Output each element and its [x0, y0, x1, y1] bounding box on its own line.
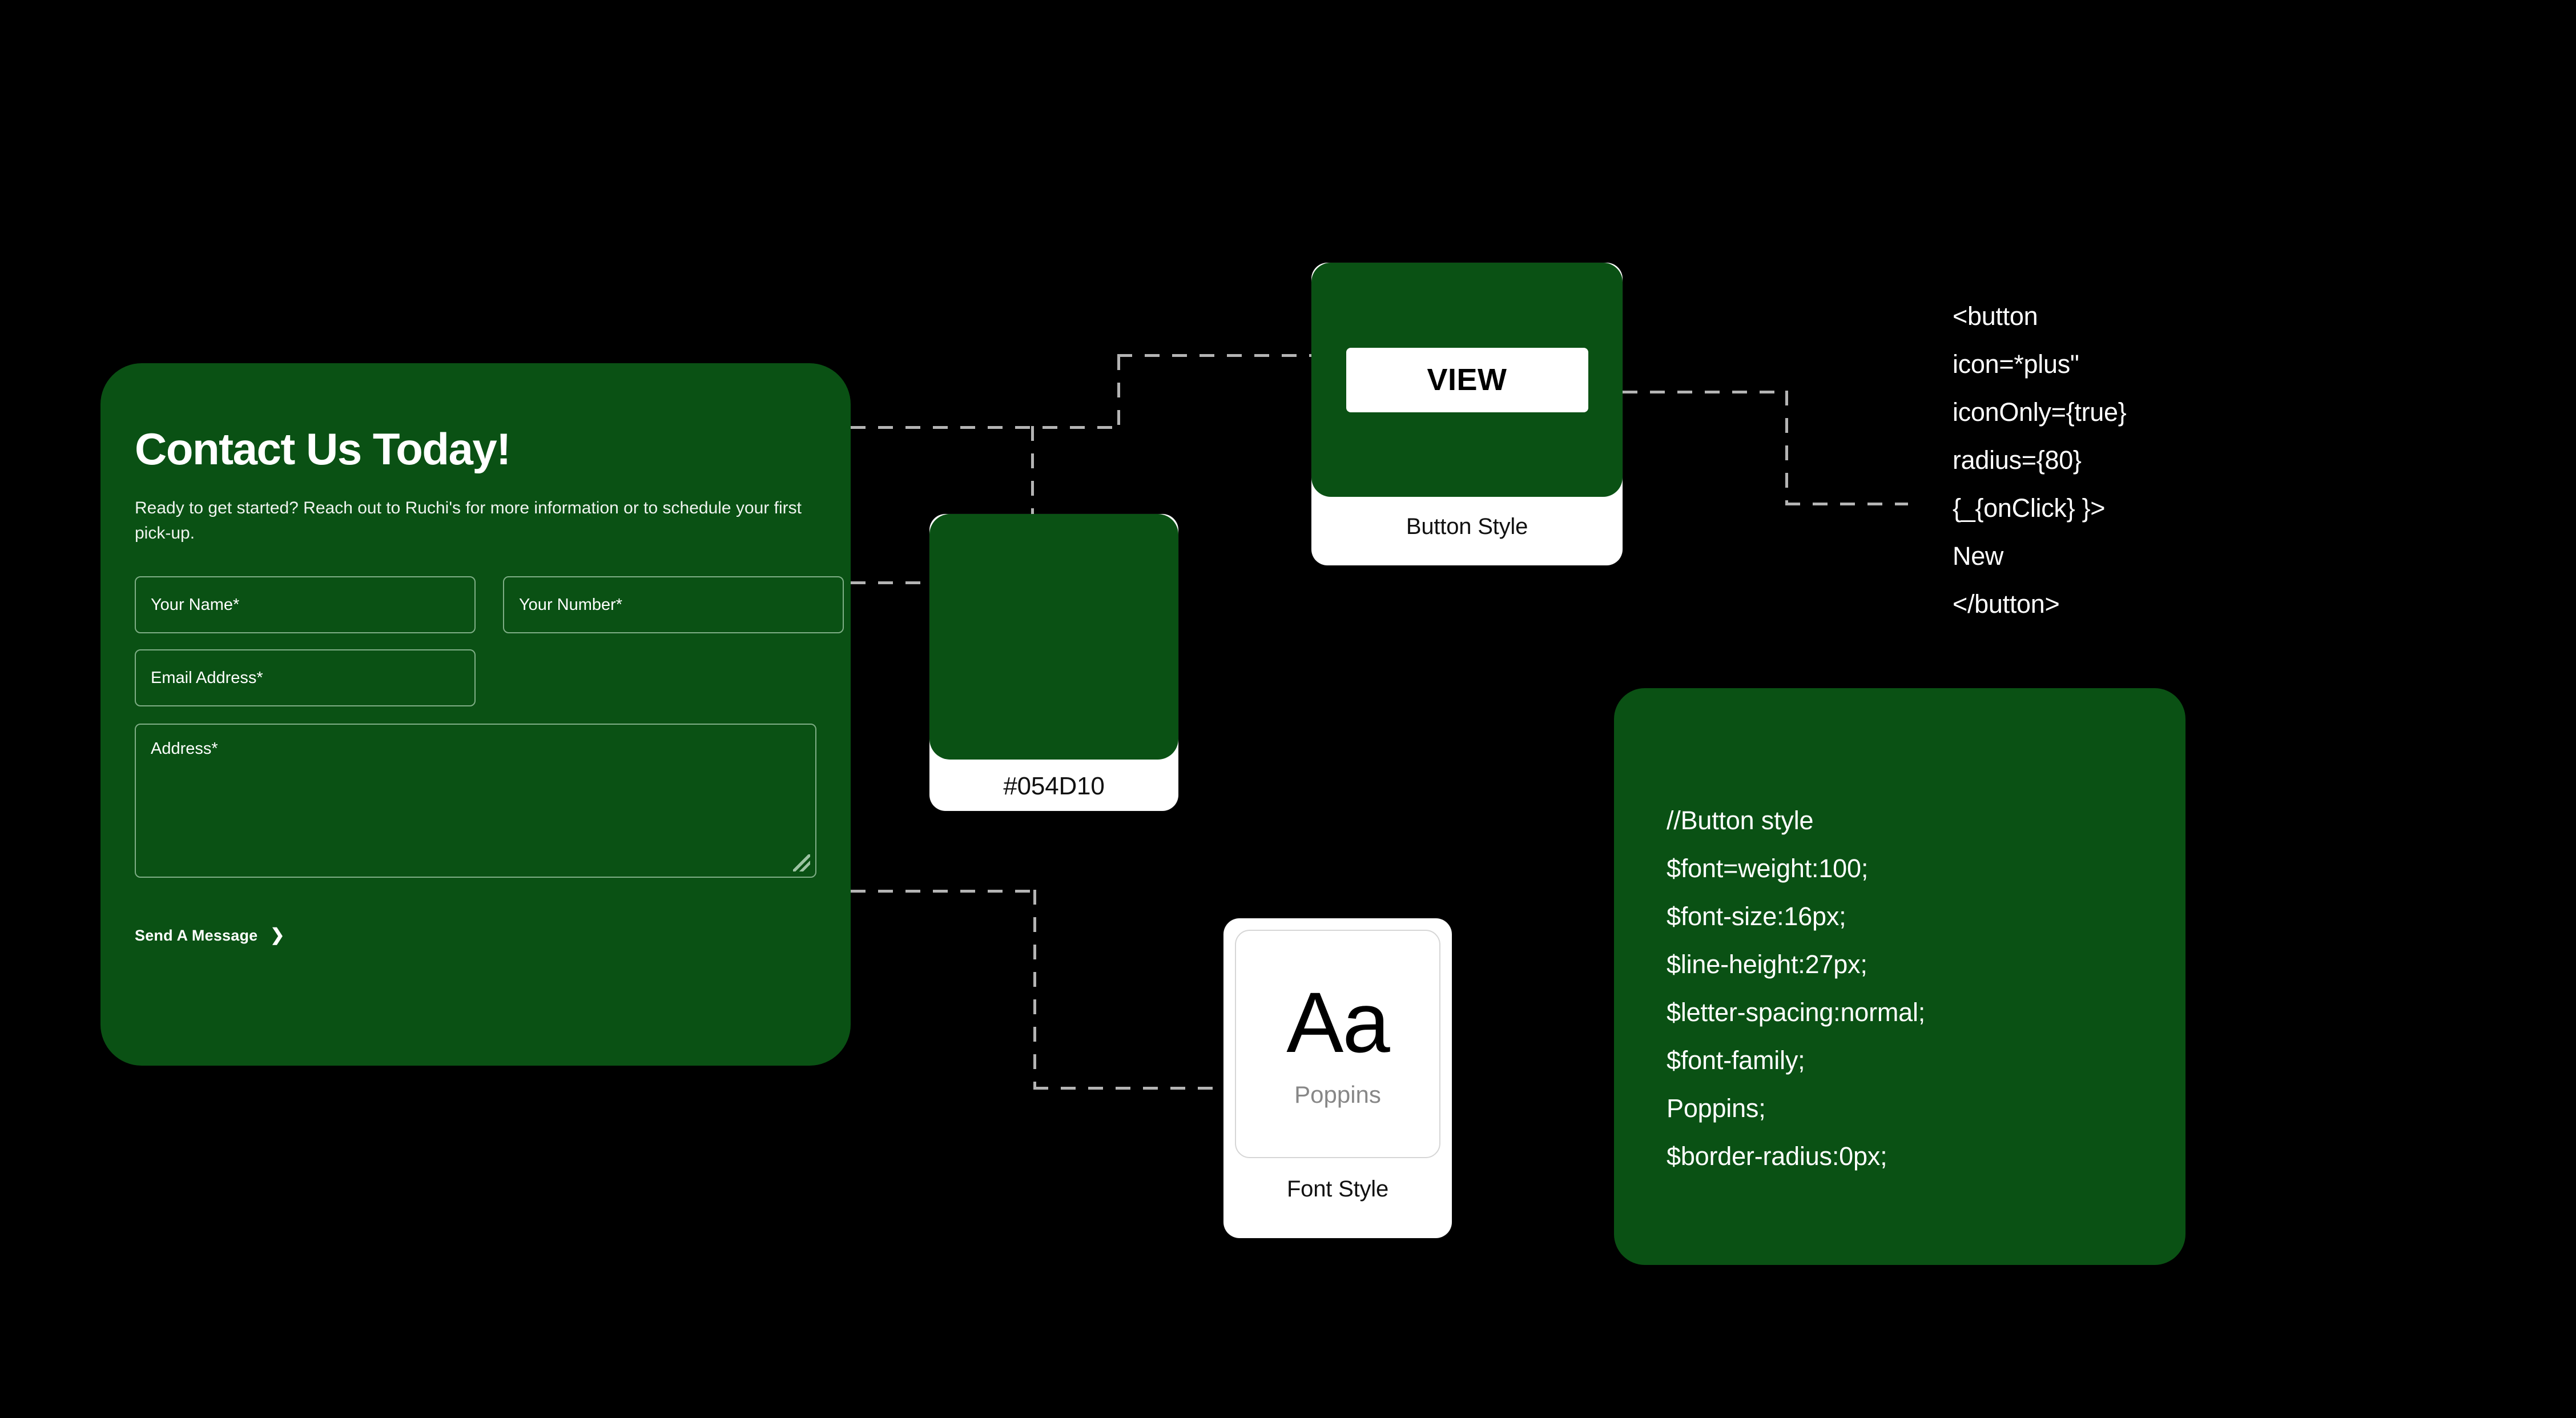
connector-contact-to-button-h1	[851, 426, 1119, 429]
font-style-card: Aa Poppins Font Style	[1223, 918, 1452, 1238]
code-line: radius={80}	[1953, 436, 2272, 484]
your-number-input[interactable]: Your Number*	[503, 576, 844, 633]
send-a-message-label: Send A Message	[135, 927, 257, 945]
connector-contact-to-font-h1	[851, 890, 1036, 893]
send-a-message-button[interactable]: Send A Message ❯	[135, 927, 285, 945]
contact-subtitle: Ready to get started? Reach out to Ruchi…	[135, 496, 808, 545]
css-line: Poppins;	[1667, 1084, 2185, 1132]
css-line: $font=weight:100;	[1667, 845, 2185, 893]
connector-contact-to-button-v1	[1117, 355, 1120, 428]
color-swatch-chip	[929, 514, 1178, 760]
button-style-preview: VIEW	[1311, 263, 1623, 497]
code-line: New	[1953, 532, 2272, 580]
connector-contact-to-font-v	[1033, 890, 1036, 1090]
code-line: icon=*plus"	[1953, 340, 2272, 388]
css-line: //Button style	[1667, 797, 2185, 845]
chevron-right-icon: ❯	[270, 927, 284, 944]
code-line: <button	[1953, 292, 2272, 340]
css-line: $font-family;	[1667, 1037, 2185, 1084]
color-swatch-card: #054D10	[929, 514, 1178, 811]
css-line: $border-radius:0px;	[1667, 1132, 2185, 1180]
button-code-snippet: <button icon=*plus" iconOnly={true} radi…	[1953, 292, 2272, 628]
connector-button-to-code-h1	[1623, 391, 1788, 393]
field-row-name-number: Your Name* Your Number*	[135, 576, 816, 633]
view-button[interactable]: VIEW	[1346, 348, 1588, 412]
code-line: iconOnly={true}	[1953, 388, 2272, 436]
contact-title: Contact Us Today!	[135, 425, 816, 473]
font-sample-glyphs: Aa	[1286, 979, 1388, 1065]
resize-handle-icon[interactable]	[793, 854, 810, 871]
design-system-canvas: Contact Us Today! Ready to get started? …	[0, 0, 2576, 1418]
css-line: $font-size:16px;	[1667, 893, 2185, 941]
connector-button-to-code-h2	[1785, 503, 1908, 505]
contact-form-card: Contact Us Today! Ready to get started? …	[100, 363, 851, 1066]
code-line: {_{onClick} }>	[1953, 484, 2272, 532]
font-family-name: Poppins	[1294, 1081, 1381, 1108]
font-style-label: Font Style	[1235, 1176, 1440, 1202]
connector-contact-to-button-h2	[1117, 354, 1314, 357]
button-css-panel: //Button style $font=weight:100; $font-s…	[1614, 688, 2185, 1265]
address-placeholder: Address*	[151, 740, 218, 758]
button-style-card: VIEW Button Style	[1311, 263, 1623, 565]
css-line: $line-height:27px;	[1667, 941, 2185, 989]
email-address-input[interactable]: Email Address*	[135, 649, 476, 706]
button-style-label: Button Style	[1311, 514, 1623, 540]
connector-swatch-drop-left	[1031, 426, 1034, 516]
address-input[interactable]: Address*	[135, 724, 816, 878]
code-line: </button>	[1953, 580, 2272, 628]
connector-contact-to-font-h2	[1033, 1087, 1227, 1090]
css-line: $letter-spacing:normal;	[1667, 989, 2185, 1037]
font-preview-panel: Aa Poppins	[1235, 930, 1440, 1158]
your-name-input[interactable]: Your Name*	[135, 576, 476, 633]
color-swatch-label: #054D10	[929, 772, 1178, 801]
connector-button-to-code-v	[1785, 391, 1788, 504]
